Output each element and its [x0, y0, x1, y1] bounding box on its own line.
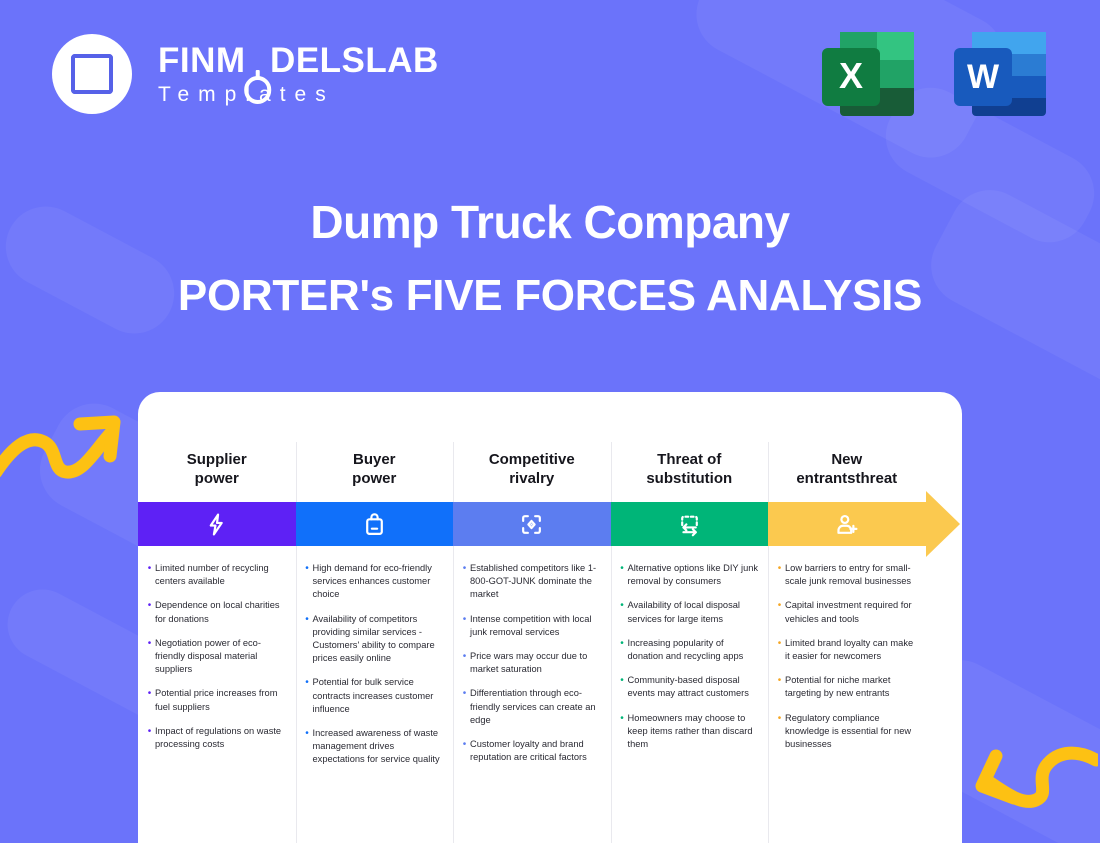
list-item-text: High demand for eco-friendly services en…: [313, 562, 445, 602]
bullet-dot-icon: •: [144, 725, 155, 751]
column-body-competitive-rivalry: •Established competitors like 1-800-GOT-…: [453, 546, 611, 843]
page-header: FINMDELSLAB Templates X W: [0, 0, 1100, 145]
swap-arrows-icon: [677, 512, 702, 537]
list-item-text: Availability of local disposal services …: [628, 599, 760, 625]
column-header-line1: Buyer: [296, 450, 454, 469]
column-header-line2: power: [138, 469, 296, 488]
column-header-line2: substitution: [611, 469, 769, 488]
list-item: •Price wars may occur due to market satu…: [459, 650, 602, 676]
target-focus-icon: [519, 512, 544, 537]
bullet-dot-icon: •: [774, 712, 785, 752]
bullet-dot-icon: •: [302, 562, 313, 602]
list-item-text: Homeowners may choose to keep items rath…: [628, 712, 760, 752]
list-item: •Homeowners may choose to keep items rat…: [617, 712, 760, 752]
list-item: •Established competitors like 1-800-GOT-…: [459, 562, 602, 602]
column-header-new-entrants-threat: Newentrantsthreat: [768, 392, 926, 502]
bullet-dot-icon: •: [459, 687, 470, 727]
svg-text:W: W: [967, 58, 1000, 96]
bullet-dot-icon: •: [459, 650, 470, 676]
add-person-icon: [834, 512, 859, 537]
list-item-text: Dependence on local charities for donati…: [155, 599, 287, 625]
list-item: •Potential for bulk service contracts in…: [302, 676, 445, 716]
column-header-competitive-rivalry: Competitiverivalry: [453, 392, 611, 502]
force-column-new-entrants-threat: Newentrantsthreat•Low barriers to entry …: [768, 392, 926, 843]
bullet-dot-icon: •: [617, 674, 628, 700]
list-item: •Potential for niche market targeting by…: [774, 674, 917, 700]
bullet-list: •Low barriers to entry for small-scale j…: [774, 562, 917, 751]
list-item: •Availability of competitors providing s…: [302, 613, 445, 666]
column-icon-band-buyer-power: [296, 502, 454, 546]
list-item: •Availability of local disposal services…: [617, 599, 760, 625]
list-item-text: Potential for niche market targeting by …: [785, 674, 917, 700]
list-item-text: Community-based disposal events may attr…: [628, 674, 760, 700]
bullet-dot-icon: •: [302, 727, 313, 767]
list-item: •Limited number of recycling centers ava…: [144, 562, 287, 588]
grid-squares-icon: [71, 53, 113, 95]
force-column-threat-of-substitution: Threat ofsubstitution•Alternative option…: [611, 392, 769, 843]
page-title: Dump Truck Company: [0, 196, 1100, 249]
list-item: •Impact of regulations on waste processi…: [144, 725, 287, 751]
list-item: •Differentiation through eco-friendly se…: [459, 687, 602, 727]
list-item-text: Potential for bulk service contracts inc…: [313, 676, 445, 716]
list-item: •Regulatory compliance knowledge is esse…: [774, 712, 917, 752]
bullet-dot-icon: •: [459, 562, 470, 602]
list-item: •Negotiation power of eco-friendly dispo…: [144, 637, 287, 677]
svg-text:X: X: [839, 55, 863, 96]
arrow-head: [926, 491, 960, 557]
column-header-line1: Competitive: [453, 450, 611, 469]
brand-name-part2: DELSLAB: [270, 41, 439, 80]
list-item-text: Established competitors like 1-800-GOT-J…: [470, 562, 602, 602]
list-item-text: Low barriers to entry for small-scale ju…: [785, 562, 917, 588]
column-icon-band-threat-of-substitution: [611, 502, 769, 546]
porters-five-forces-card: Supplierpower•Limited number of recyclin…: [138, 392, 962, 843]
squiggly-arrow-up-right-icon: [0, 408, 126, 484]
bullet-dot-icon: •: [144, 562, 155, 588]
list-item: •Increased awareness of waste management…: [302, 727, 445, 767]
column-header-line2: entrantsthreat: [768, 469, 926, 488]
list-item-text: Negotiation power of eco-friendly dispos…: [155, 637, 287, 677]
page-subtitle: PORTER's FIVE FORCES ANALYSIS: [0, 271, 1100, 322]
brand-name: FINMDELSLAB: [158, 43, 439, 78]
list-item: •Alternative options like DIY junk remov…: [617, 562, 760, 588]
bullet-list: •Limited number of recycling centers ava…: [144, 562, 287, 751]
force-column-competitive-rivalry: Competitiverivalry•Established competito…: [453, 392, 611, 843]
column-body-threat-of-substitution: •Alternative options like DIY junk remov…: [611, 546, 769, 843]
bullet-dot-icon: •: [774, 637, 785, 663]
squiggly-arrow-down-left-icon: [962, 742, 1098, 824]
list-item: •Potential price increases from fuel sup…: [144, 687, 287, 713]
column-header-buyer-power: Buyerpower: [296, 392, 454, 502]
list-item-text: Capital investment required for vehicles…: [785, 599, 917, 625]
list-item: •Limited brand loyalty can make it easie…: [774, 637, 917, 663]
list-item: •Capital investment required for vehicle…: [774, 599, 917, 625]
column-icon-band-competitive-rivalry: [453, 502, 611, 546]
brand-name-part1: FINM: [158, 41, 246, 80]
list-item: •Customer loyalty and brand reputation a…: [459, 738, 602, 764]
list-item: •Low barriers to entry for small-scale j…: [774, 562, 917, 588]
column-body-buyer-power: •High demand for eco-friendly services e…: [296, 546, 454, 843]
bullet-dot-icon: •: [617, 562, 628, 588]
bullet-dot-icon: •: [774, 674, 785, 700]
list-item-text: Differentiation through eco-friendly ser…: [470, 687, 602, 727]
column-body-supplier-power: •Limited number of recycling centers ava…: [138, 546, 296, 843]
bullet-dot-icon: •: [617, 637, 628, 663]
list-item-text: Increased awareness of waste management …: [313, 727, 445, 767]
column-header-line2: power: [296, 469, 454, 488]
column-header-supplier-power: Supplierpower: [138, 392, 296, 502]
column-header-line1: New: [768, 450, 926, 469]
bullet-dot-icon: •: [774, 599, 785, 625]
list-item-text: Regulatory compliance knowledge is essen…: [785, 712, 917, 752]
column-header-line1: Supplier: [138, 450, 296, 469]
list-item-text: Customer loyalty and brand reputation ar…: [470, 738, 602, 764]
bullet-dot-icon: •: [617, 712, 628, 752]
list-item: •Community-based disposal events may att…: [617, 674, 760, 700]
bullet-dot-icon: •: [302, 676, 313, 716]
force-column-buyer-power: Buyerpower•High demand for eco-friendly …: [296, 392, 454, 843]
list-item: •Dependence on local charities for donat…: [144, 599, 287, 625]
column-body-new-entrants-threat: •Low barriers to entry for small-scale j…: [768, 546, 926, 843]
bullet-list: •High demand for eco-friendly services e…: [302, 562, 445, 766]
bullet-dot-icon: •: [302, 613, 313, 666]
list-item-text: Impact of regulations on waste processin…: [155, 725, 287, 751]
bullet-dot-icon: •: [459, 738, 470, 764]
column-icon-band-new-entrants-threat: [768, 502, 926, 546]
bullet-list: •Established competitors like 1-800-GOT-…: [459, 562, 602, 764]
list-item-text: Limited brand loyalty can make it easier…: [785, 637, 917, 663]
shopping-bag-icon: [362, 512, 387, 537]
list-item-text: Alternative options like DIY junk remova…: [628, 562, 760, 588]
bullet-dot-icon: •: [459, 613, 470, 639]
column-header-line2: rivalry: [453, 469, 611, 488]
word-icon[interactable]: W: [950, 28, 1050, 120]
logo-circle: [52, 34, 132, 114]
bullet-list: •Alternative options like DIY junk remov…: [617, 562, 760, 751]
list-item: •Intense competition with local junk rem…: [459, 613, 602, 639]
list-item-text: Potential price increases from fuel supp…: [155, 687, 287, 713]
list-item-text: Availability of competitors providing si…: [313, 613, 445, 666]
title-block: Dump Truck Company PORTER's FIVE FORCES …: [0, 196, 1100, 321]
brand-subtitle: Templates: [158, 84, 439, 105]
bullet-dot-icon: •: [774, 562, 785, 588]
column-icon-band-supplier-power: [138, 502, 296, 546]
brand-logo[interactable]: FINMDELSLAB Templates: [52, 34, 439, 114]
list-item-text: Price wars may occur due to market satur…: [470, 650, 602, 676]
force-column-supplier-power: Supplierpower•Limited number of recyclin…: [138, 392, 296, 843]
office-app-icons: X W: [818, 28, 1050, 120]
column-header-line1: Threat of: [611, 450, 769, 469]
bullet-dot-icon: •: [144, 599, 155, 625]
five-forces-table: Supplierpower•Limited number of recyclin…: [138, 392, 962, 843]
list-item: •Increasing popularity of donation and r…: [617, 637, 760, 663]
lightning-bolt-icon: [204, 512, 229, 537]
list-item-text: Increasing popularity of donation and re…: [628, 637, 760, 663]
excel-icon[interactable]: X: [818, 28, 918, 120]
list-item: •High demand for eco-friendly services e…: [302, 562, 445, 602]
list-item-text: Intense competition with local junk remo…: [470, 613, 602, 639]
bullet-dot-icon: •: [144, 637, 155, 677]
bullet-dot-icon: •: [617, 599, 628, 625]
bullet-dot-icon: •: [144, 687, 155, 713]
list-item-text: Limited number of recycling centers avai…: [155, 562, 287, 588]
column-header-threat-of-substitution: Threat ofsubstitution: [611, 392, 769, 502]
